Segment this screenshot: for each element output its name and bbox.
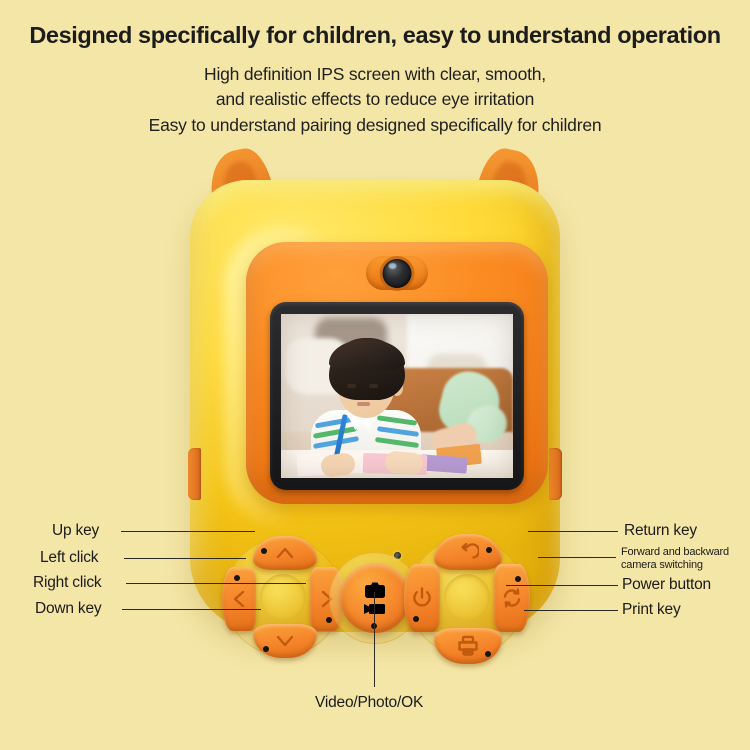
camera-switch-button[interactable] (494, 564, 530, 632)
leader-line-right-click (126, 583, 306, 584)
printer-icon (456, 635, 480, 657)
power-button[interactable] (404, 564, 440, 632)
callout-return-key: Return key (624, 522, 697, 540)
dpad-center-recess (260, 574, 306, 620)
callout-power-button: Power button (622, 576, 711, 594)
return-arrow-icon (457, 543, 479, 561)
function-center-recess (444, 574, 490, 620)
kids-instant-camera (168, 148, 582, 648)
camera-faceplate (246, 242, 548, 504)
screen-bezel (270, 302, 524, 490)
subtitle-line-3: Easy to understand pairing designed spec… (0, 115, 750, 136)
leader-line-left-click (124, 558, 246, 559)
callout-down-key: Down key (35, 600, 101, 618)
leader-line-up-key (121, 531, 255, 532)
down-key-button[interactable] (253, 624, 317, 658)
camera-switch-icon (501, 587, 523, 609)
side-button-left[interactable] (188, 448, 201, 500)
photo-vignette (281, 314, 513, 478)
infographic-canvas: Designed specifically for children, easy… (0, 0, 750, 750)
callout-left-click: Left click (40, 549, 98, 567)
chevron-left-icon (232, 589, 246, 609)
callout-camera-switching: Forward and backward camera switching (621, 546, 745, 571)
print-key-button[interactable] (434, 628, 502, 664)
callout-right-click: Right click (33, 574, 101, 592)
camera-lens-icon (383, 259, 412, 288)
subtitle-line-1: High definition IPS screen with clear, s… (0, 64, 750, 85)
up-key-button[interactable] (253, 536, 317, 570)
page-title: Designed specifically for children, easy… (0, 22, 750, 49)
video-photo-ok-button[interactable] (340, 563, 410, 633)
subtitle-line-2: and realistic effects to reduce eye irri… (0, 89, 750, 110)
dpad-cluster (224, 538, 342, 656)
leader-line-down-key (122, 609, 261, 610)
ips-display (281, 314, 513, 478)
leader-line-return-key (528, 531, 618, 532)
power-icon (412, 587, 432, 609)
left-click-button[interactable] (222, 567, 256, 631)
return-key-button[interactable] (434, 534, 502, 570)
camera-body-shell (190, 180, 560, 632)
leader-line-print-key (524, 610, 618, 611)
leader-line-video-photo-ok (374, 592, 375, 687)
leader-line-camera-switching (538, 557, 616, 558)
chevron-down-icon (275, 634, 295, 648)
leader-line-power-button (506, 585, 618, 586)
callout-print-key: Print key (622, 601, 681, 619)
function-cluster (408, 538, 526, 656)
callout-up-key: Up key (52, 522, 99, 540)
side-button-right[interactable] (549, 448, 562, 500)
callout-video-photo-ok: Video/Photo/OK (315, 694, 423, 712)
photo-video-icon (358, 580, 392, 616)
chevron-up-icon (275, 546, 295, 560)
